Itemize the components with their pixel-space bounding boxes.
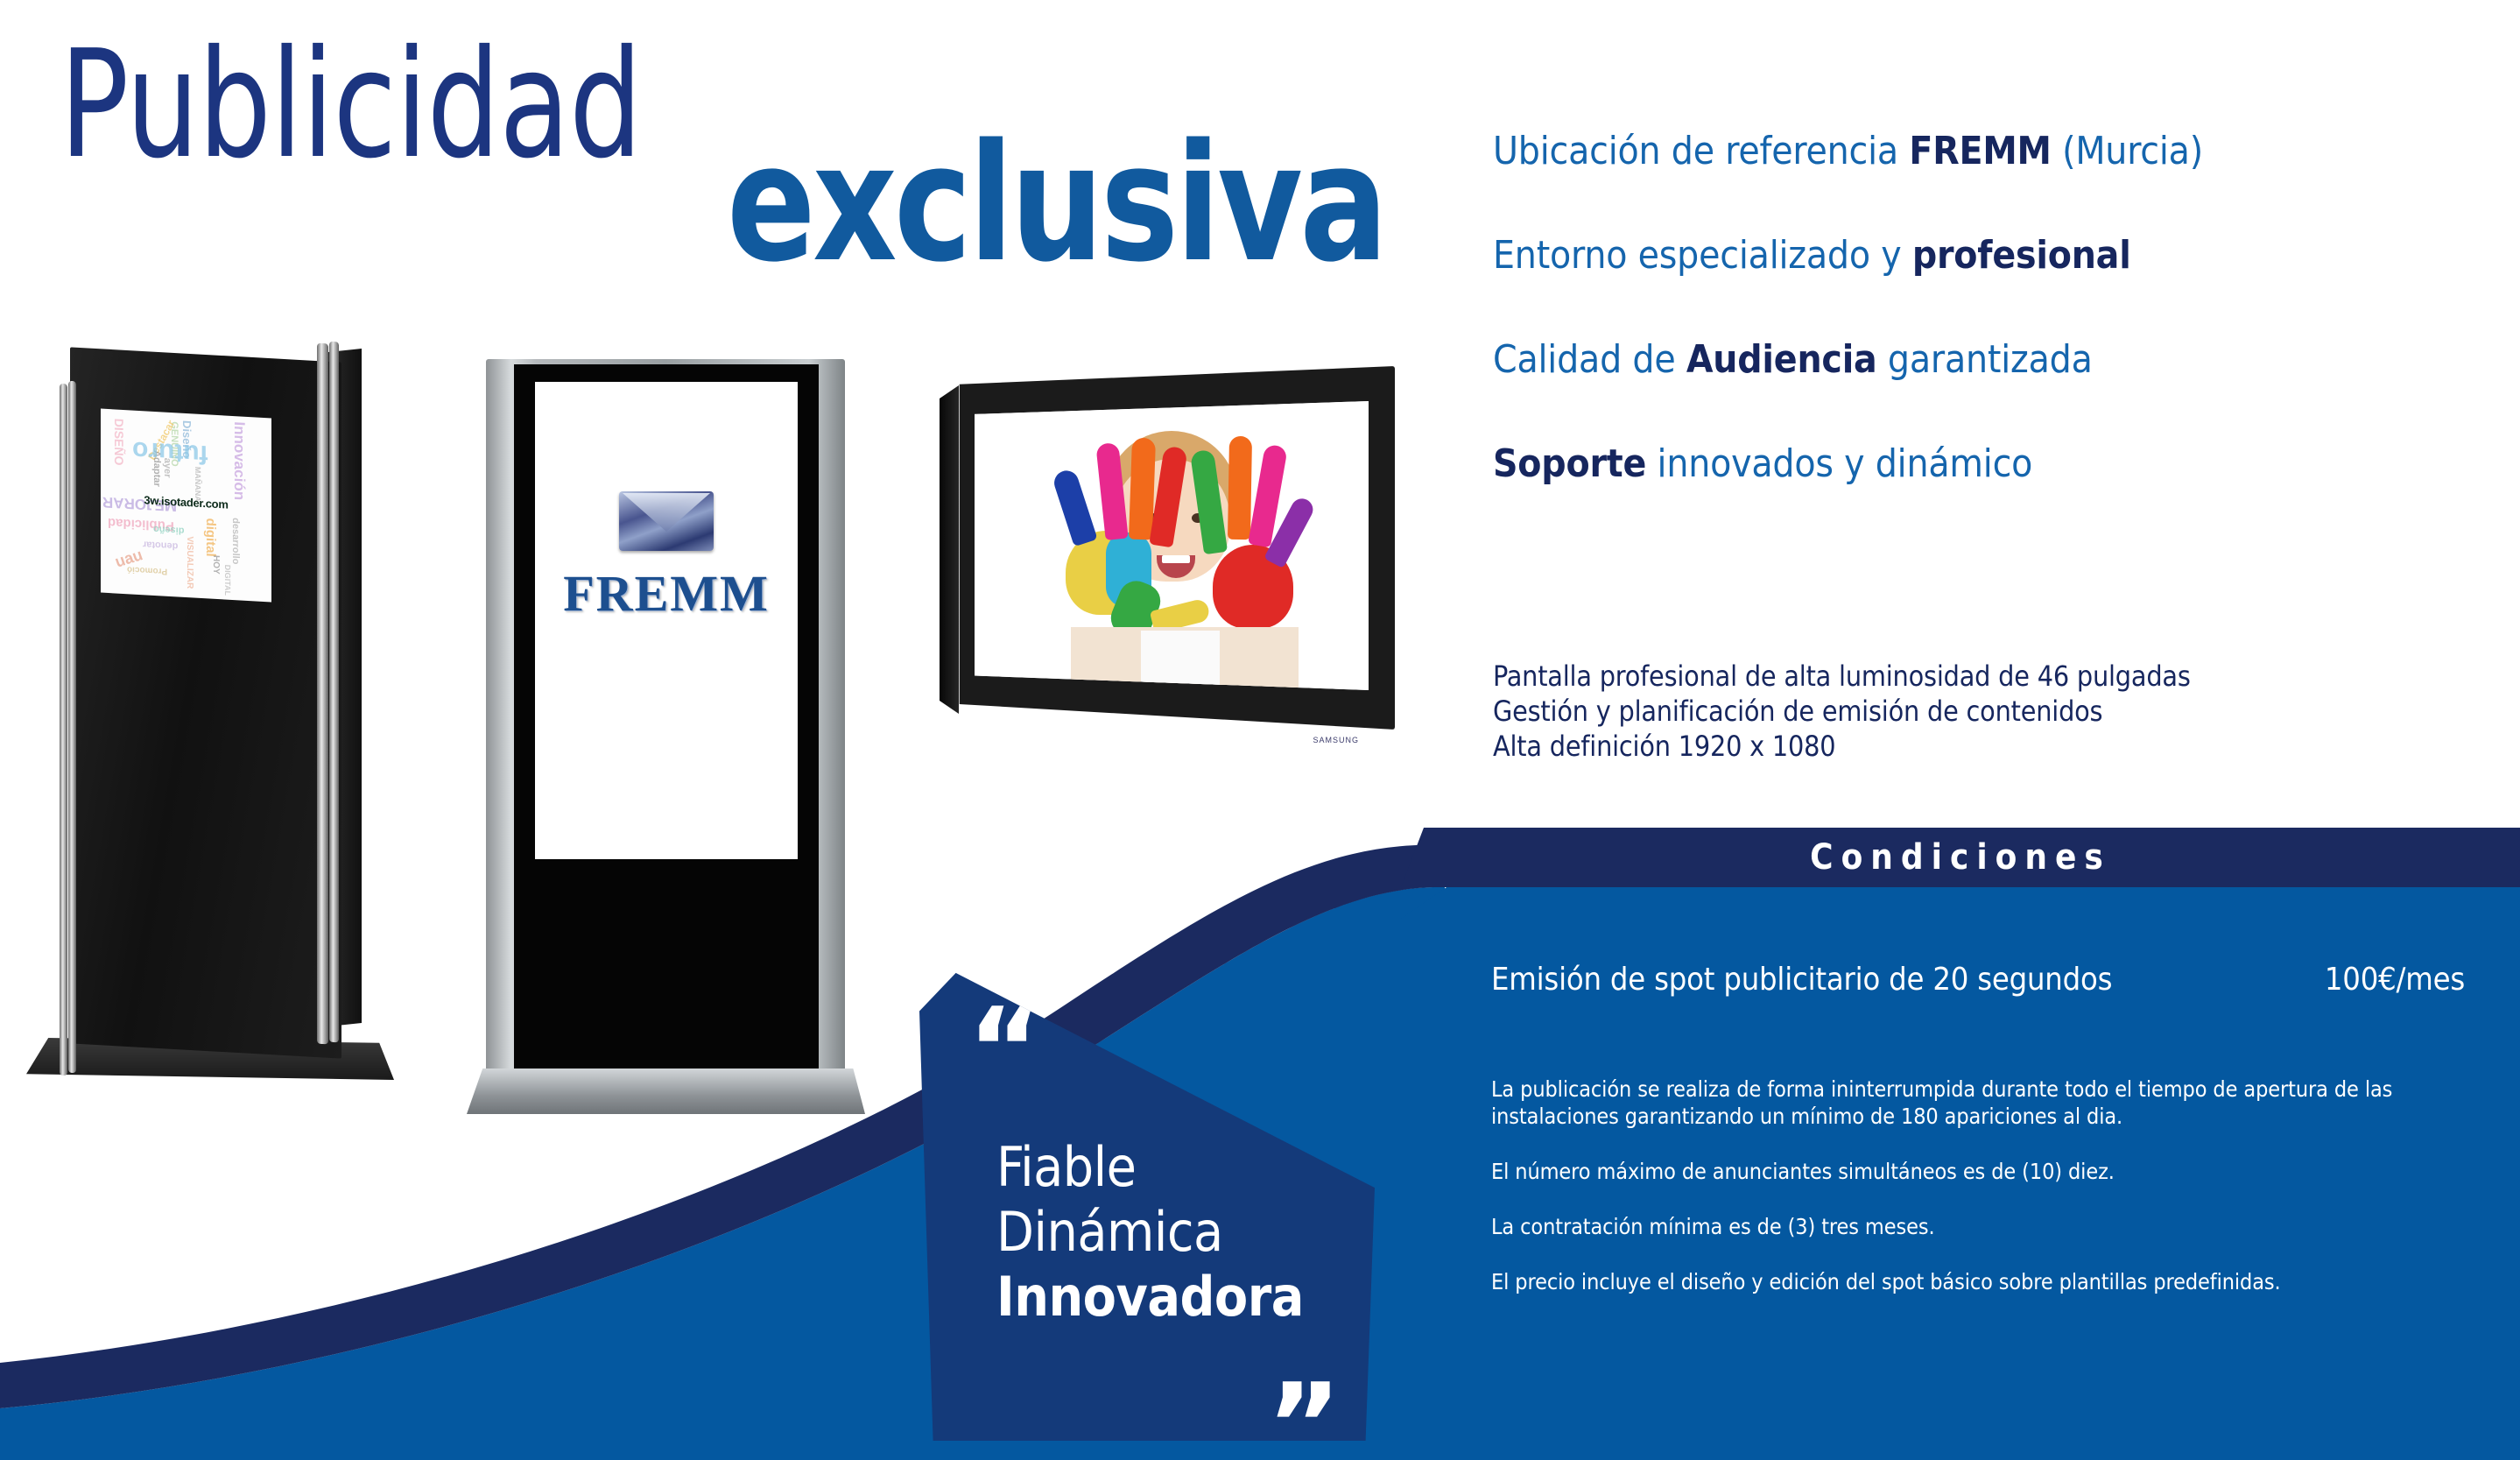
spec-line: Alta definición 1920 x 1080 [1493, 729, 2509, 764]
bullet-item: Entorno especializado y profesional [1493, 236, 2491, 276]
conditions-items: La publicación se realiza de forma inint… [1491, 1076, 2463, 1323]
monitor-brand-label: SAMSUNG [1313, 736, 1359, 744]
bullet-text-pre: Entorno especializado y [1493, 233, 1912, 278]
kiosk-fremm-base [467, 1069, 865, 1114]
kiosk-fremm-screen: FREMM [535, 382, 798, 859]
condition-item: El número máximo de anunciantes simultán… [1491, 1158, 2463, 1185]
slide-root: Publicidad exclusiva Innovación Innovaci… [0, 0, 2520, 1460]
condition-item: El precio incluye el diseño y edición de… [1491, 1268, 2463, 1295]
bullet-text-pre: Ubicación de referencia [1493, 129, 1909, 173]
conditions-headline-text: Emisión de spot publicitario de 20 segun… [1491, 962, 2112, 998]
spec-line: Pantalla profesional de alta luminosidad… [1493, 659, 2509, 694]
fremm-wordmark: FREMM [535, 564, 798, 623]
bullet-item: Soporte innovados y dinámico [1493, 444, 2491, 484]
product-monitor: SAMSUNG [915, 359, 1410, 771]
bullet-item: Calidad de Audiencia garantizada [1493, 340, 2491, 380]
condition-item: La publicación se realiza de forma inint… [1491, 1076, 2463, 1130]
technical-specs: Pantalla profesional de alta luminosidad… [1493, 659, 2509, 764]
quote-line-3: Innovadora [996, 1265, 1304, 1329]
bullet-text-bold: FREMM [1909, 129, 2051, 173]
conditions-header-band: Condiciones [1401, 828, 2520, 887]
monitor-screen [975, 401, 1369, 690]
quote-open-mark: “ [968, 1009, 1042, 1091]
bullet-text-bold: profesional [1912, 233, 2131, 278]
conditions-price: 100€/mes [2325, 962, 2472, 998]
bullet-text-pre: Calidad de [1493, 337, 1686, 382]
title-line-exclusiva: exclusiva [727, 123, 1385, 285]
conditions-headline-row: Emisión de spot publicitario de 20 segun… [1491, 962, 2472, 998]
kiosk-black-rail-left-1 [60, 384, 67, 1076]
feature-bullet-list: Ubicación de referencia FREMM (Murcia) E… [1493, 131, 2491, 548]
condition-item: La contratación mínima es de (3) tres me… [1491, 1213, 2463, 1240]
conditions-header-title: Condiciones [1401, 828, 2520, 887]
page-title: Publicidad exclusiva [53, 31, 1471, 285]
bullet-text-bold: Audiencia [1686, 337, 1877, 382]
fremm-envelope-icon [619, 491, 714, 551]
monitor-left-edge [940, 385, 959, 714]
quote-line-2: Dinámica [996, 1200, 1223, 1264]
kiosk-black-rail-left-2 [68, 381, 76, 1074]
product-kiosk-fremm: FREMM [460, 350, 871, 1130]
kiosk-black-rail-right-2 [329, 342, 339, 1043]
spec-line: Gestión y planificación de emisión de co… [1493, 694, 2509, 729]
bullet-text-bold: Soporte [1493, 441, 1646, 486]
product-kiosk-black: Innovación Innovación DISEÑO Diseño GENU… [18, 333, 429, 1121]
quote-line-1: Fiable [996, 1135, 1137, 1199]
title-line-publicidad: Publicidad [60, 31, 642, 180]
bullet-text-post: garantizada [1877, 337, 2093, 382]
kiosk-black-rail-right-1 [317, 343, 328, 1045]
bullet-text-post: innovados y dinámico [1646, 441, 2032, 486]
bullet-text-post: (Murcia) [2052, 129, 2203, 173]
bullet-item: Ubicación de referencia FREMM (Murcia) [1493, 131, 2491, 172]
